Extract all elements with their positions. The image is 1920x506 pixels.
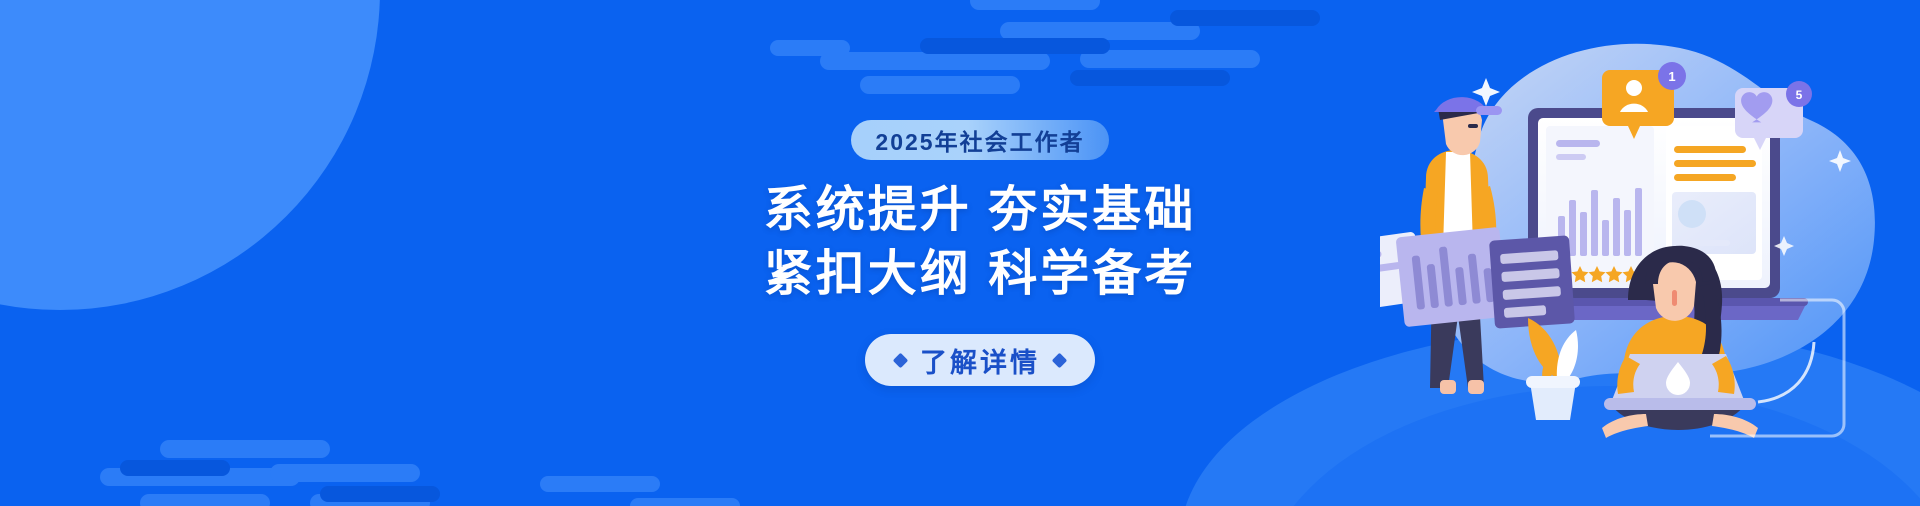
learn-more-button[interactable]: 了解详情	[865, 334, 1095, 386]
headline-block: 系统提升 夯实基础 紧扣大纲 科学备考	[764, 178, 1197, 306]
banner-content: 2025年社会工作者 系统提升 夯实基础 紧扣大纲 科学备考 了解详情	[700, 0, 1260, 506]
diamond-icon-right	[1052, 352, 1068, 368]
headline-line-2: 紧扣大纲 科学备考	[764, 242, 1197, 306]
diamond-icon-left	[893, 352, 909, 368]
top-left-circle-decoration	[0, 0, 380, 310]
user-notification-count: 1	[1668, 69, 1675, 84]
document-cards	[1380, 227, 1575, 329]
promo-banner: 2025年社会工作者 系统提升 夯实基础 紧扣大纲 科学备考 了解详情	[0, 0, 1920, 506]
like-notification-count: 5	[1796, 88, 1803, 102]
learn-more-button-label: 了解详情	[920, 341, 1040, 380]
course-year-badge: 2025年社会工作者	[851, 120, 1108, 160]
hero-illustration: 1 5	[1380, 0, 1880, 506]
cloud-decoration-bottom-left-dark	[120, 444, 460, 506]
headline-line-1: 系统提升 夯实基础	[764, 178, 1197, 242]
